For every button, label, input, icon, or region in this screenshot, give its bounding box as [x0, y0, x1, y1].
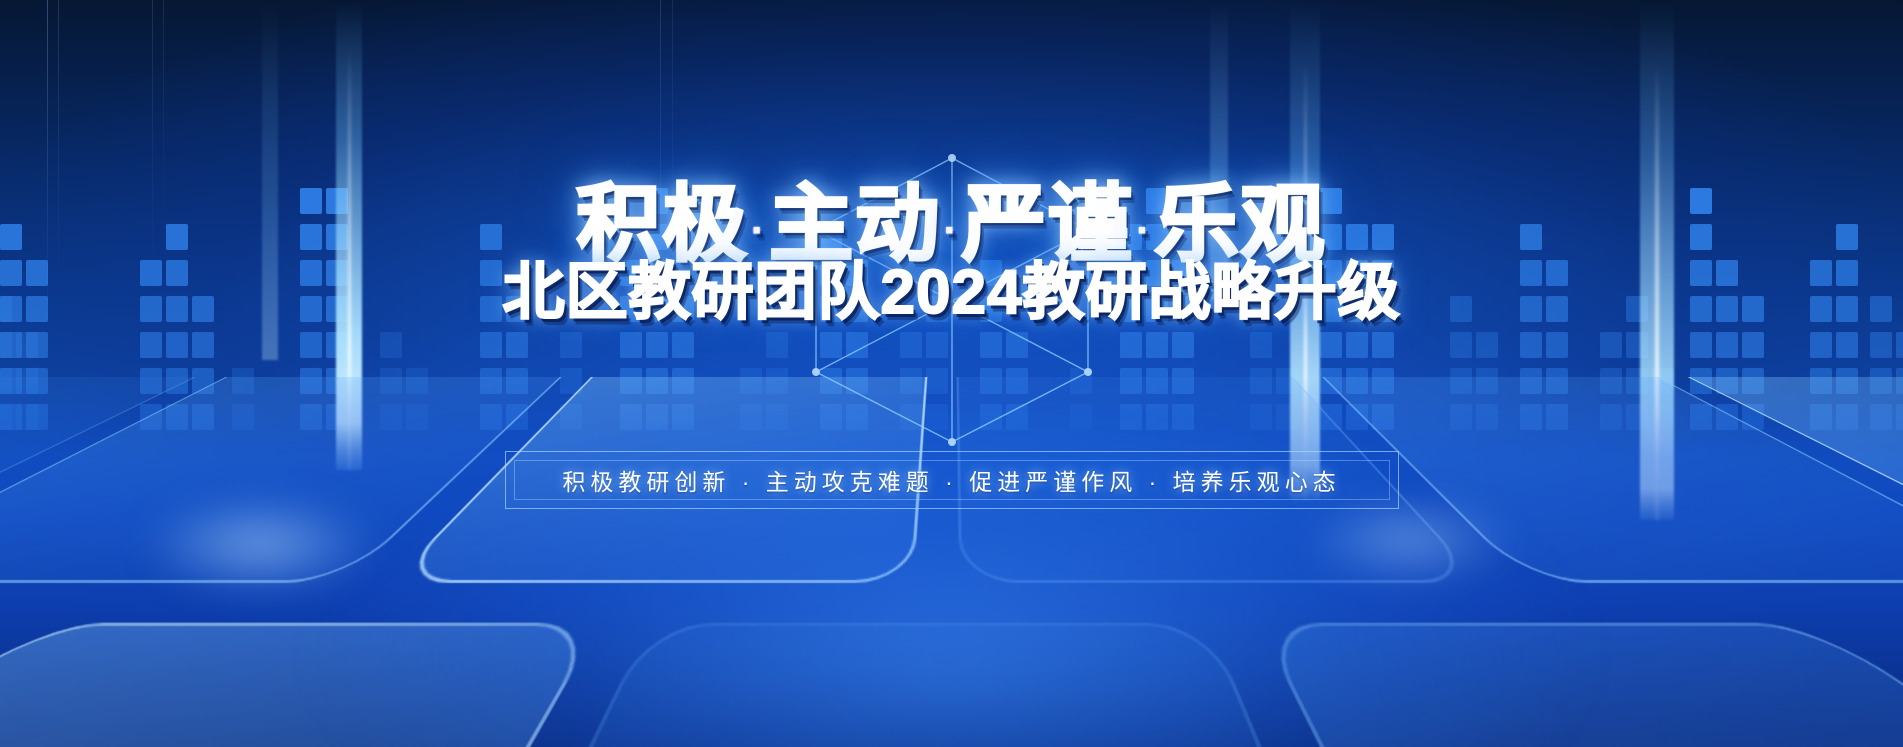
banner-subtitle: 北区教研团队2024教研战略升级	[0, 262, 1903, 324]
banner-canvas: 积极·主动·严谨·乐观 北区教研团队2024教研战略升级 积极教研创新 · 主动…	[0, 0, 1903, 747]
title-word: 严谨	[962, 177, 1134, 271]
title-word: 乐观	[1155, 177, 1327, 271]
title-separator: ·	[943, 206, 960, 255]
banner-title: 积极·主动·严谨·乐观	[0, 182, 1903, 266]
title-word: 主动	[769, 177, 941, 271]
banner-tagline: 积极教研创新 · 主动攻克难题 · 促进严谨作风 · 培养乐观心态	[506, 452, 1398, 508]
title-separator: ·	[1136, 206, 1153, 255]
tagline-frame: 积极教研创新 · 主动攻克难题 · 促进严谨作风 · 培养乐观心态	[505, 451, 1399, 509]
title-separator: ·	[751, 206, 768, 255]
title-word: 积极	[576, 177, 748, 271]
banner-content: 积极·主动·严谨·乐观 北区教研团队2024教研战略升级 积极教研创新 · 主动…	[0, 0, 1903, 747]
